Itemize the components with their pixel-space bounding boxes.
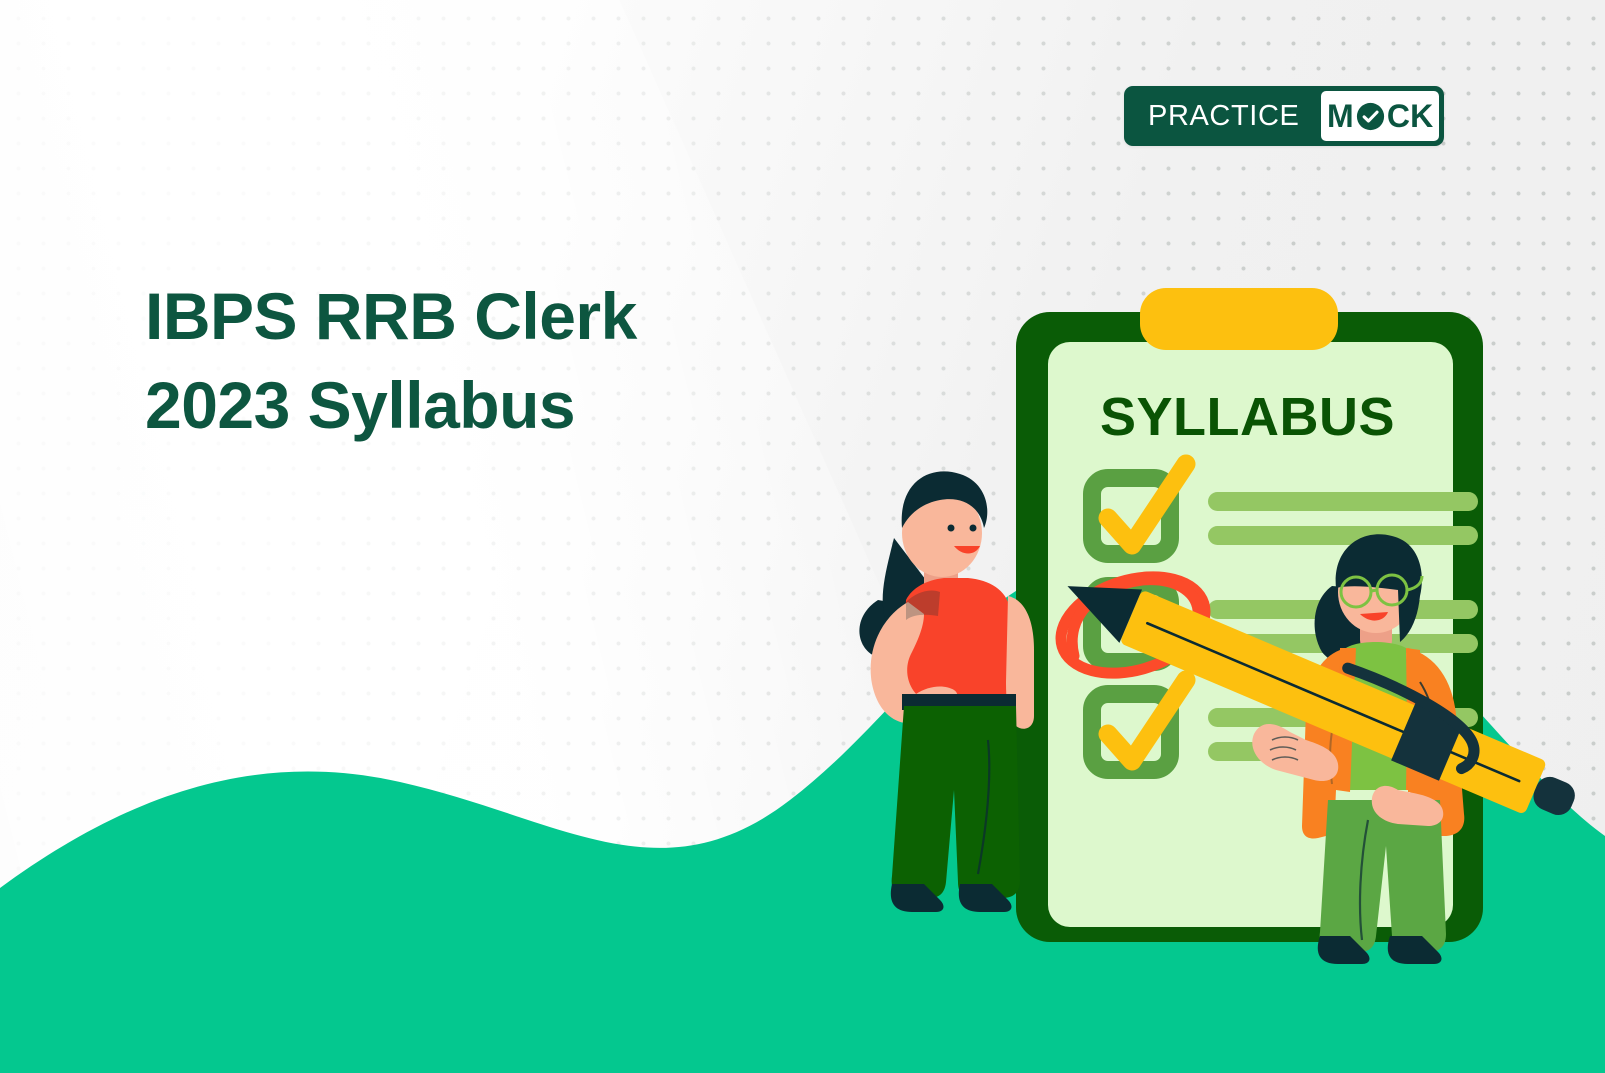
practicemock-logo[interactable]: PRACTICE M CK <box>1124 86 1444 146</box>
text-line-1b <box>1208 526 1478 545</box>
clipboard-title: SYLLABUS <box>1100 390 1395 444</box>
logo-primary-block: PRACTICE <box>1124 86 1321 146</box>
syllabus-illustration <box>820 270 1605 970</box>
page-title-line-1: IBPS RRB Clerk <box>145 272 865 361</box>
text-line-1a <box>1208 492 1478 511</box>
logo-word-practice: PRACTICE <box>1148 102 1299 131</box>
left-person <box>859 471 1034 912</box>
logo-secondary-block: M CK <box>1321 91 1439 141</box>
logo-word-ck: CK <box>1387 100 1434 132</box>
logo-word-m: M <box>1327 100 1354 132</box>
syllabus-banner: PRACTICE M CK IBPS RRB Clerk 2023 Syllab… <box>0 0 1605 1073</box>
clipboard-clip <box>1140 288 1338 350</box>
page-title: IBPS RRB Clerk 2023 Syllabus <box>145 272 865 450</box>
page-title-line-2: 2023 Syllabus <box>145 361 865 450</box>
check-circle-icon <box>1356 102 1385 131</box>
